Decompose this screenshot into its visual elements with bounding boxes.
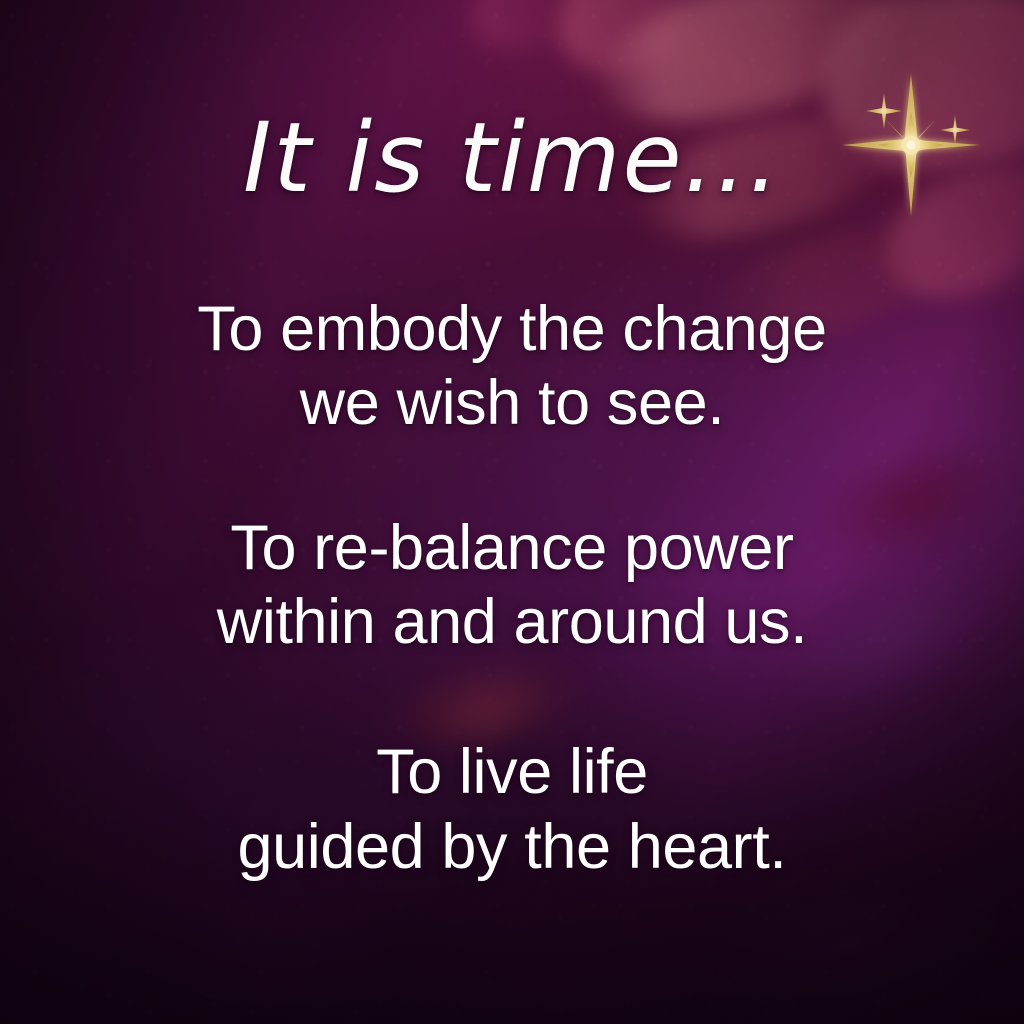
- quote-stanza: To live life guided by the heart.: [0, 735, 1024, 884]
- page-title: It is time...: [0, 108, 1024, 209]
- quote-stanza: To embody the change we wish to see.: [0, 292, 1024, 441]
- quote-poster: It is time... To embody the change we wi…: [0, 0, 1024, 1024]
- quote-body: To embody the change we wish to see. To …: [0, 292, 1024, 884]
- quote-stanza: To re-balance power within and around us…: [0, 511, 1024, 660]
- poster-content: It is time... To embody the change we wi…: [0, 0, 1024, 1024]
